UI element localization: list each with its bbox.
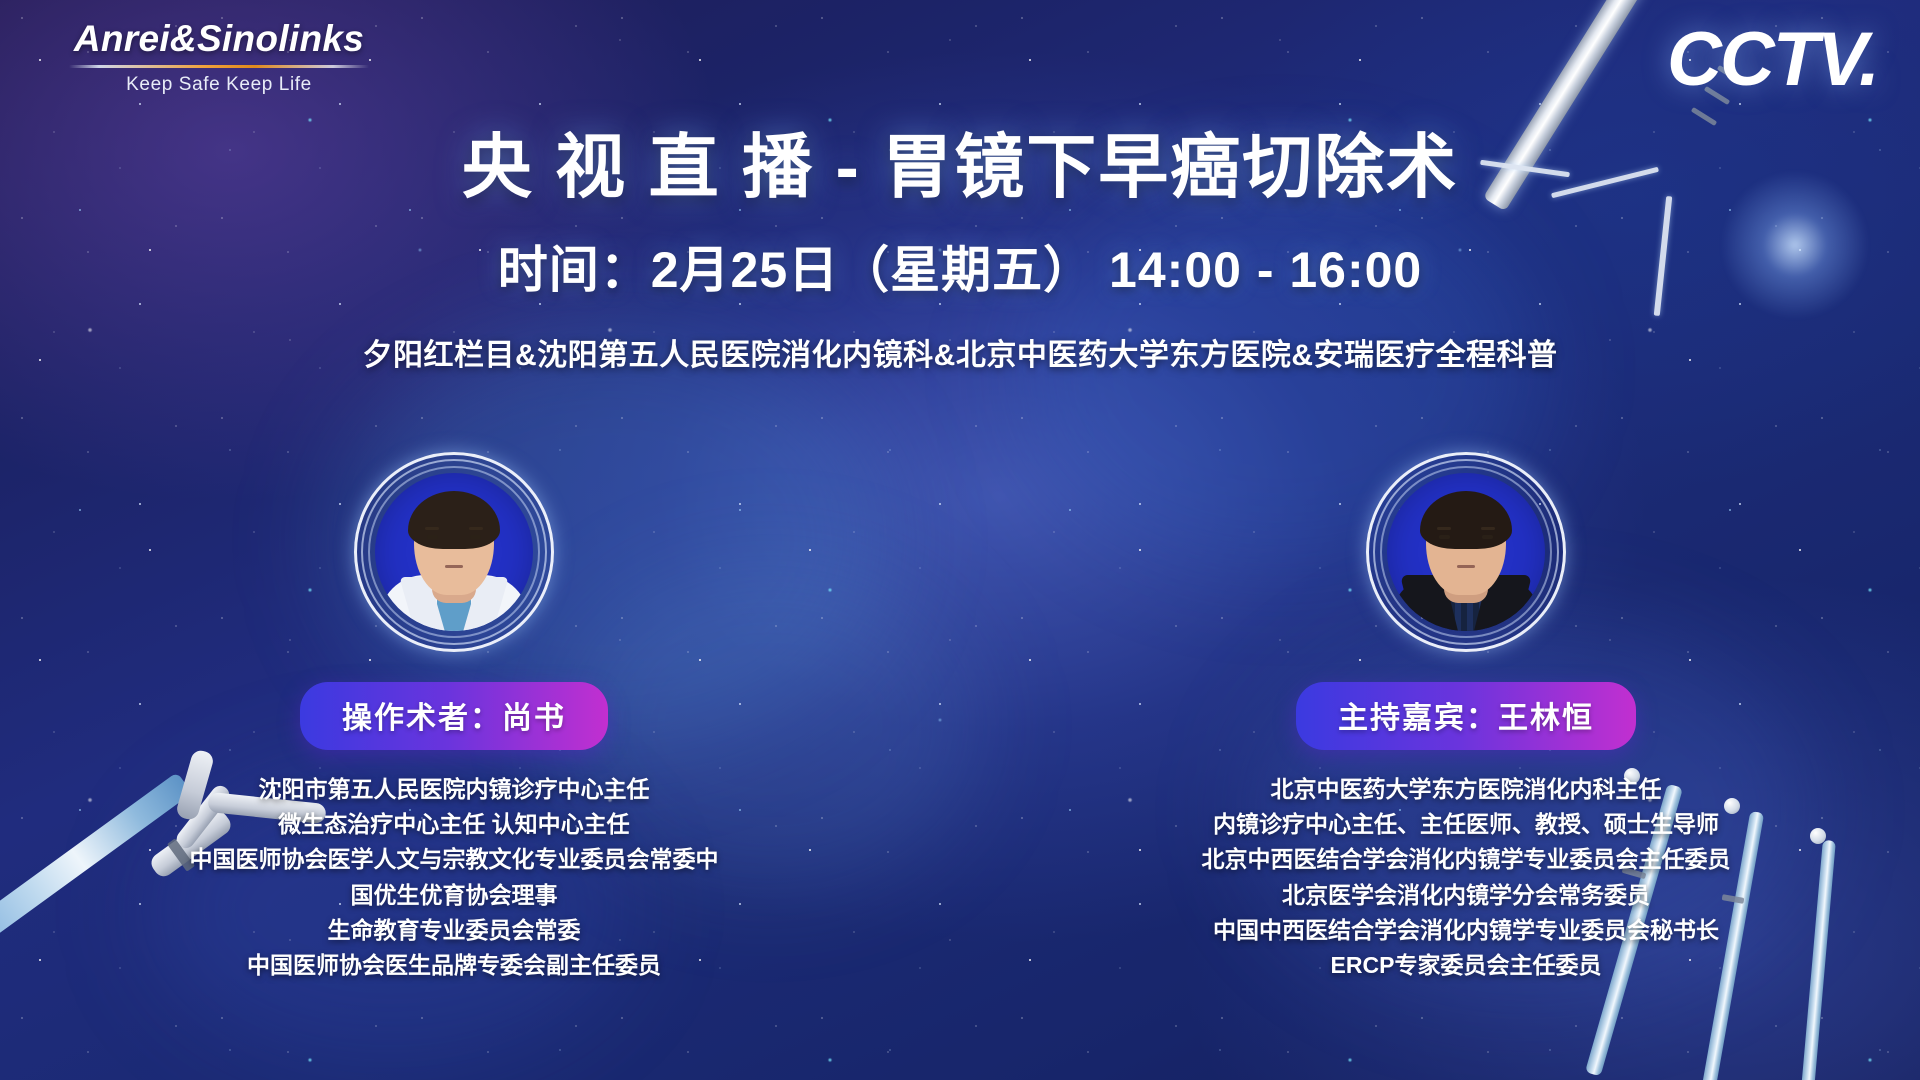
portrait-mouth	[445, 565, 463, 568]
speaker-card: 主持嘉宾：王林恒 北京中医药大学东方医院消化内科主任 内镜诊疗中心主任、主任医师…	[1146, 452, 1786, 983]
speaker-card: 操作术者：尚书 沈阳市第五人民医院内镜诊疗中心主任 微生态治疗中心主任 认知中心…	[134, 452, 774, 983]
speaker-credentials: 北京中医药大学东方医院消化内科主任 内镜诊疗中心主任、主任医师、教授、硕士生导师…	[1146, 772, 1786, 983]
portrait-hair	[408, 491, 500, 549]
speaker-photo	[1387, 473, 1545, 631]
brand-divider	[69, 65, 369, 68]
speaker-name-badge: 主持嘉宾：王林恒	[1296, 682, 1636, 750]
portrait-brow	[469, 527, 483, 530]
page-title: 央 视 直 播 - 胃镜下早癌切除术	[0, 128, 1920, 206]
credential-line: 北京中医药大学东方医院消化内科主任	[1146, 772, 1786, 807]
portrait-eye	[427, 535, 438, 539]
speaker-photo	[375, 473, 533, 631]
portrait-eye	[470, 535, 481, 539]
credential-line: 中国医师协会医学人文与宗教文化专业委员会常委中	[134, 842, 774, 877]
credential-line: 微生态治疗中心主任 认知中心主任	[134, 807, 774, 842]
speaker-credentials: 沈阳市第五人民医院内镜诊疗中心主任 微生态治疗中心主任 认知中心主任 中国医师协…	[134, 772, 774, 983]
credential-line: 内镜诊疗中心主任、主任医师、教授、硕士生导师	[1146, 807, 1786, 842]
brand-tagline: Keep Safe Keep Life	[64, 74, 374, 96]
portrait-eye	[1482, 535, 1493, 539]
portrait-brow	[425, 527, 439, 530]
speakers-section: 操作术者：尚书 沈阳市第五人民医院内镜诊疗中心主任 微生态治疗中心主任 认知中心…	[0, 452, 1920, 983]
brand-wordmark-text: Anrei&Sinolinks	[74, 18, 364, 59]
speaker-name-badge: 操作术者：尚书	[300, 682, 608, 750]
portrait-brow	[1437, 527, 1451, 530]
promo-poster: Anrei&Sinolinks Keep Safe Keep Life CCTV…	[0, 0, 1920, 1080]
portrait-hair	[1420, 491, 1512, 549]
partners-line: 夕阳红栏目&沈阳第五人民医院消化内镜科&北京中医药大学东方医院&安瑞医疗全程科普	[0, 330, 1920, 374]
avatar	[354, 452, 554, 652]
credential-line: 生命教育专业委员会常委	[134, 913, 774, 948]
cctv-logo: CCTV.	[1667, 16, 1878, 103]
brand-wordmark: Anrei&Sinolinks	[64, 18, 374, 60]
credential-line: 国优生优育协会理事	[134, 878, 774, 913]
headline-block: 央 视 直 播 - 胃镜下早癌切除术 时间：2月25日（星期五） 14:00 -…	[0, 128, 1920, 374]
credential-line: 中国中西医结合学会消化内镜学专业委员会秘书长	[1146, 913, 1786, 948]
credential-line: ERCP专家委员会主任委员	[1146, 948, 1786, 983]
credential-line: 北京医学会消化内镜学分会常务委员	[1146, 878, 1786, 913]
credential-line: 中国医师协会医生品牌专委会副主任委员	[134, 948, 774, 983]
credential-line: 沈阳市第五人民医院内镜诊疗中心主任	[134, 772, 774, 807]
brand-logo: Anrei&Sinolinks Keep Safe Keep Life	[64, 18, 374, 96]
avatar	[1366, 452, 1566, 652]
portrait-mouth	[1457, 565, 1475, 568]
portrait-brow	[1481, 527, 1495, 530]
event-time: 时间：2月25日（星期五） 14:00 - 16:00	[0, 230, 1920, 302]
portrait-eye	[1439, 535, 1450, 539]
credential-line: 北京中西医结合学会消化内镜学专业委员会主任委员	[1146, 842, 1786, 877]
